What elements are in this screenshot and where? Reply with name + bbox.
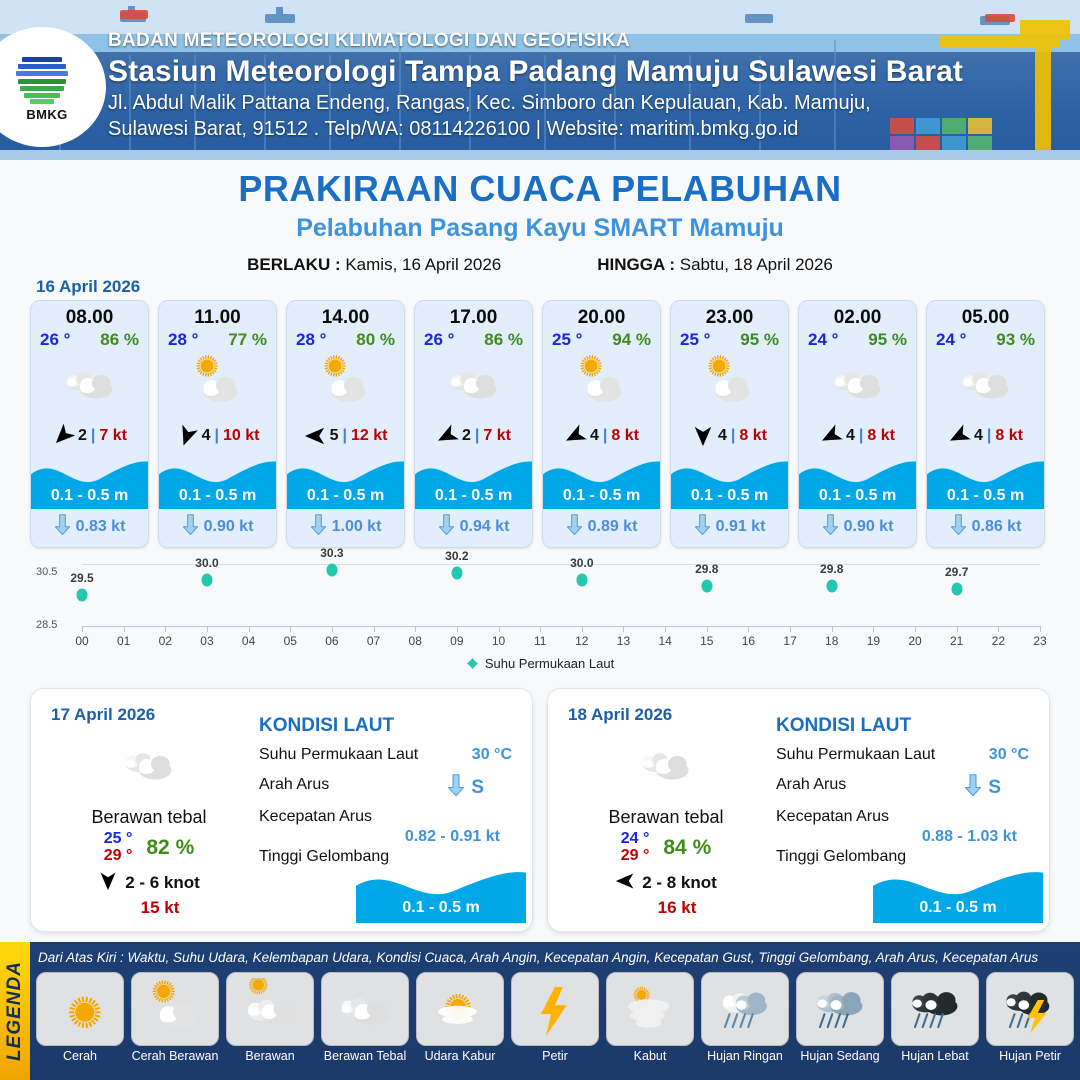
card-wind-row: 4 | 10 kt	[159, 424, 276, 448]
card-divider: |	[859, 427, 863, 445]
sea-conditions-header: KONDISI LAUT	[259, 715, 518, 737]
valid-from: BERLAKU : Kamis, 16 April 2026	[247, 255, 501, 275]
chart-point-label: 30.0	[570, 556, 593, 570]
address-line-2: Sulawesi Barat, 91512 . Telp/WA: 0811422…	[108, 118, 1072, 141]
card-weather-cerah-berawan-icon	[287, 352, 404, 414]
card-air-temperature: 26 °	[40, 330, 70, 350]
day-left-column: Berawan tebal 25 ° 29 ° 82 % 2 - 6 knot …	[49, 733, 249, 918]
chart-xtick-label: 23	[1033, 634, 1046, 648]
card-time: 11.00	[159, 307, 276, 329]
chart-xtick	[1040, 626, 1041, 632]
current-direction-row: Arah Arus S	[259, 776, 518, 794]
legend-note: Dari Atas Kiri : Waktu, Suhu Udara, Kele…	[38, 950, 1074, 965]
sst-chart: Suhu Permukaan Laut 30.528.5000102030405…	[30, 556, 1050, 676]
day-weather-berawan-tebal-icon	[49, 733, 249, 795]
legend-side-title: LEGENDA	[4, 961, 26, 1061]
current-direction-down-arrow-icon	[54, 514, 71, 540]
chart-point-label: 29.5	[70, 571, 93, 585]
agency-name: BADAN METEOROLOGI KLIMATOLOGI DAN GEOFIS…	[108, 30, 1072, 52]
card-air-temperature: 24 °	[936, 330, 966, 350]
current-direction-label: Arah Arus	[259, 776, 329, 793]
day-wind-range: 2 - 8 knot	[642, 873, 717, 893]
card-weather-berawan-tebal-icon	[799, 352, 916, 414]
forecast-card: 11.00 28 ° 77 % 4 | 10 kt 0.1 - 0.5 m 0.…	[158, 300, 277, 548]
day-wind-row: 2 - 8 knot	[566, 871, 766, 896]
card-time: 05.00	[927, 307, 1044, 329]
day-temp-row: 24 ° 29 ° 84 %	[566, 831, 766, 865]
daily-summary-card: 17 April 2026 Berawan tebal 25 ° 29 ° 82…	[30, 688, 533, 932]
card-gust-speed: 10 kt	[223, 427, 259, 445]
chart-data-point	[326, 564, 337, 577]
card-time: 20.00	[543, 307, 660, 329]
legend-item: Hujan Petir	[986, 972, 1074, 1063]
card-air-temperature: 25 °	[552, 330, 582, 350]
card-wave-height: 0.1 - 0.5 m	[31, 487, 148, 505]
day-condition: Berawan tebal	[566, 807, 766, 828]
current-direction-row: Arah Arus S	[776, 776, 1035, 794]
card-wind-row: 4 | 8 kt	[543, 424, 660, 448]
card-time: 14.00	[287, 307, 404, 329]
valid-from-label: BERLAKU :	[247, 255, 341, 274]
card-humidity: 86 %	[484, 330, 523, 350]
current-speed-value: 0.82 - 0.91 kt	[259, 828, 518, 846]
legend-item-label: Hujan Sedang	[796, 1049, 884, 1063]
card-current-speed: 0.90 kt	[844, 518, 894, 536]
card-divider: |	[214, 427, 218, 445]
card-divider: |	[342, 427, 346, 445]
card-temp-hum-row: 24 ° 93 %	[927, 329, 1044, 350]
day-left-column: Berawan tebal 24 ° 29 ° 84 % 2 - 8 knot …	[566, 733, 766, 918]
chart-data-point	[826, 579, 837, 592]
sst-row: Suhu Permukaan Laut 30 °C	[776, 746, 1035, 764]
chart-xtick-label: 06	[325, 634, 338, 648]
card-current-speed: 0.90 kt	[204, 518, 254, 536]
title-block: PRAKIRAAN CUACA PELABUHAN Pelabuhan Pasa…	[0, 168, 1080, 275]
day-temp-col: 24 ° 29 °	[621, 831, 650, 865]
card-humidity: 95 %	[868, 330, 907, 350]
current-direction-down-arrow-icon	[566, 514, 583, 540]
current-direction-down-arrow-icon	[182, 514, 199, 540]
day-temp-max: 29 °	[621, 848, 650, 865]
current-direction-value: S	[471, 777, 484, 799]
current-direction-value-group: S	[447, 774, 484, 802]
card-wind-speed: 2	[78, 427, 87, 445]
forecast-card: 05.00 24 ° 93 % 4 | 8 kt 0.1 - 0.5 m	[926, 300, 1045, 548]
legend-item-label: Hujan Lebat	[891, 1049, 979, 1063]
card-current-row: 0.90 kt	[799, 512, 916, 542]
card-divider: |	[603, 427, 607, 445]
chart-point-label: 30.2	[445, 549, 468, 563]
card-current-row: 0.90 kt	[159, 512, 276, 542]
page-header: BMKG BADAN METEOROLOGI KLIMATOLOGI DAN G…	[0, 0, 1080, 160]
card-humidity: 80 %	[356, 330, 395, 350]
page-subtitle: Pelabuhan Pasang Kayu SMART Mamuju	[0, 214, 1080, 243]
legend-item: Hujan Lebat	[891, 972, 979, 1063]
card-wave-band: 0.1 - 0.5 m	[31, 453, 148, 509]
card-current-speed: 0.83 kt	[76, 518, 126, 536]
card-wave-band: 0.1 - 0.5 m	[287, 453, 404, 509]
wind-direction-arrow-icon	[52, 425, 74, 447]
card-divider: |	[731, 427, 735, 445]
page-title: PRAKIRAAN CUACA PELABUHAN	[0, 168, 1080, 210]
chart-ytick-max: 30.5	[36, 566, 57, 578]
sst-value: 30 °C	[989, 746, 1029, 764]
chart-xtick-label: 10	[492, 634, 505, 648]
card-wave-height: 0.1 - 0.5 m	[799, 487, 916, 505]
current-speed-label: Kecepatan Arus	[259, 808, 372, 825]
card-wave-band: 0.1 - 0.5 m	[671, 453, 788, 509]
card-wind-row: 5 | 12 kt	[287, 424, 404, 448]
wind-direction-arrow-icon	[820, 425, 842, 447]
chart-legend: Suhu Permukaan Laut	[30, 656, 1050, 671]
chart-legend-marker-icon	[466, 657, 479, 670]
current-direction-value-group: S	[964, 774, 1001, 802]
current-speed-row: Kecepatan Arus	[259, 808, 518, 826]
forecast-card: 08.00 26 ° 86 % 2 | 7 kt 0.1 - 0.5 m	[30, 300, 149, 548]
valid-to: HINGGA : Sabtu, 18 April 2026	[597, 255, 833, 275]
chart-xtick-label: 00	[75, 634, 88, 648]
card-wave-height: 0.1 - 0.5 m	[415, 487, 532, 505]
legend-item: Udara Kabur	[416, 972, 504, 1063]
legend-cerah-berawan-icon	[131, 972, 219, 1046]
chart-xtick-label: 21	[950, 634, 963, 648]
card-weather-cerah-berawan-icon	[671, 352, 788, 414]
wind-direction-arrow-icon	[304, 425, 326, 447]
card-divider: |	[91, 427, 95, 445]
chart-xtick-label: 18	[825, 634, 838, 648]
card-wave-height: 0.1 - 0.5 m	[543, 487, 660, 505]
day-date: 17 April 2026	[51, 705, 155, 725]
card-divider: |	[475, 427, 479, 445]
chart-xtick-label: 01	[117, 634, 130, 648]
card-humidity: 77 %	[228, 330, 267, 350]
card-air-temperature: 26 °	[424, 330, 454, 350]
chart-data-point	[77, 589, 88, 602]
day-wind-range: 2 - 6 knot	[125, 873, 200, 893]
card-wind-speed: 2	[462, 427, 471, 445]
day-temp-min: 24 °	[621, 831, 650, 848]
legend-item: Kabut	[606, 972, 694, 1063]
wind-direction-arrow-icon	[948, 425, 970, 447]
card-humidity: 95 %	[740, 330, 779, 350]
legend-hujan-lebat-icon	[891, 972, 979, 1046]
sst-value: 30 °C	[472, 746, 512, 764]
forecast-card: 14.00 28 ° 80 % 5 | 12 kt 0.1 - 0.5 m 1.…	[286, 300, 405, 548]
card-current-speed: 0.91 kt	[716, 518, 766, 536]
valid-to-value: Sabtu, 18 April 2026	[680, 255, 833, 274]
chart-data-point	[576, 573, 587, 586]
card-humidity: 93 %	[996, 330, 1035, 350]
valid-from-value: Kamis, 16 April 2026	[345, 255, 501, 274]
card-air-temperature: 28 °	[296, 330, 326, 350]
chart-gridline-top	[82, 564, 1040, 565]
card-gust-speed: 8 kt	[611, 427, 639, 445]
chart-xtick-label: 11	[534, 634, 546, 648]
chart-legend-label: Suhu Permukaan Laut	[485, 656, 614, 671]
card-gust-speed: 8 kt	[867, 427, 895, 445]
card-wave-height: 0.1 - 0.5 m	[159, 487, 276, 505]
legend-item-label: Cerah	[36, 1049, 124, 1063]
legend-item-label: Berawan Tebal	[321, 1049, 409, 1063]
legend-item-label: Hujan Ringan	[701, 1049, 789, 1063]
card-temp-hum-row: 25 ° 94 %	[543, 329, 660, 350]
chart-xtick-label: 12	[575, 634, 588, 648]
station-name: Stasiun Meteorologi Tampa Padang Mamuju …	[108, 55, 1072, 89]
card-wave-height: 0.1 - 0.5 m	[671, 487, 788, 505]
card-wind-row: 4 | 8 kt	[799, 424, 916, 448]
card-air-temperature: 25 °	[680, 330, 710, 350]
day-gust: 15 kt	[71, 898, 249, 918]
chart-xtick-label: 15	[700, 634, 713, 648]
card-wind-row: 4 | 8 kt	[671, 424, 788, 448]
card-current-speed: 0.86 kt	[972, 518, 1022, 536]
current-direction-down-arrow-icon	[438, 514, 455, 540]
card-temp-hum-row: 25 ° 95 %	[671, 329, 788, 350]
sst-label: Suhu Permukaan Laut	[776, 746, 935, 763]
address-line-1: Jl. Abdul Malik Pattana Endeng, Rangas, …	[108, 92, 1072, 115]
card-current-speed: 0.94 kt	[460, 518, 510, 536]
legend-item: Cerah	[36, 972, 124, 1063]
day-wave-height-value: 0.1 - 0.5 m	[356, 899, 526, 917]
card-weather-berawan-tebal-icon	[31, 352, 148, 414]
card-humidity: 86 %	[100, 330, 139, 350]
card-time: 17.00	[415, 307, 532, 329]
day-wave-band: 0.1 - 0.5 m	[356, 863, 526, 923]
day-gust: 16 kt	[588, 898, 766, 918]
wind-direction-arrow-icon	[564, 425, 586, 447]
legend-item: Hujan Ringan	[701, 972, 789, 1063]
card-time: 08.00	[31, 307, 148, 329]
wind-direction-arrow-icon	[436, 425, 458, 447]
chart-data-point	[451, 567, 462, 580]
card-wave-height: 0.1 - 0.5 m	[927, 487, 1044, 505]
forecast-card: 23.00 25 ° 95 % 4 | 8 kt 0.1 - 0.5 m 0.9…	[670, 300, 789, 548]
forecast-card: 02.00 24 ° 95 % 4 | 8 kt 0.1 - 0.5 m	[798, 300, 917, 548]
day-date: 18 April 2026	[568, 705, 672, 725]
card-weather-cerah-berawan-icon	[159, 352, 276, 414]
day-temp-col: 25 ° 29 °	[104, 831, 133, 865]
chart-xtick-label: 04	[242, 634, 255, 648]
day-temp-min: 25 °	[104, 831, 133, 848]
card-weather-berawan-tebal-icon	[927, 352, 1044, 414]
legend-item-label: Berawan	[226, 1049, 314, 1063]
card-wind-row: 2 | 7 kt	[415, 424, 532, 448]
day-weather-berawan-tebal-icon	[566, 733, 766, 795]
chart-xtick-label: 17	[783, 634, 796, 648]
current-direction-down-arrow-icon	[950, 514, 967, 540]
legend-items: Cerah Cerah Berawan Berawan	[36, 972, 1074, 1063]
card-current-row: 1.00 kt	[287, 512, 404, 542]
bmkg-logo-text: BMKG	[26, 107, 67, 122]
card-temp-hum-row: 26 ° 86 %	[31, 329, 148, 350]
card-wind-speed: 4	[846, 427, 855, 445]
sst-label: Suhu Permukaan Laut	[259, 746, 418, 763]
card-wind-speed: 4	[202, 427, 211, 445]
legend-cerah-icon	[36, 972, 124, 1046]
chart-plot-area	[82, 564, 1040, 626]
chart-ytick-min: 28.5	[36, 619, 57, 631]
chart-xtick-label: 20	[908, 634, 921, 648]
card-air-temperature: 24 °	[808, 330, 838, 350]
chart-point-label: 29.7	[945, 565, 968, 579]
card-temp-hum-row: 24 ° 95 %	[799, 329, 916, 350]
legend-footer: LEGENDA Dari Atas Kiri : Waktu, Suhu Uda…	[0, 942, 1080, 1080]
legend-item-label: Kabut	[606, 1049, 694, 1063]
chart-xtick-label: 07	[367, 634, 380, 648]
card-gust-speed: 7 kt	[483, 427, 511, 445]
current-direction-value: S	[988, 777, 1001, 799]
daily-summary-row: 17 April 2026 Berawan tebal 25 ° 29 ° 82…	[30, 688, 1050, 932]
card-wind-speed: 4	[718, 427, 727, 445]
card-current-row: 0.89 kt	[543, 512, 660, 542]
chart-point-label: 30.3	[320, 546, 343, 560]
chart-xtick-label: 19	[867, 634, 880, 648]
valid-to-label: HINGGA :	[597, 255, 675, 274]
current-direction-down-arrow-icon	[964, 774, 982, 802]
chart-xtick-label: 22	[992, 634, 1005, 648]
chart-data-point	[201, 573, 212, 586]
legend-hujan-sedang-icon	[796, 972, 884, 1046]
card-current-row: 0.94 kt	[415, 512, 532, 542]
card-current-speed: 1.00 kt	[332, 518, 382, 536]
card-wave-band: 0.1 - 0.5 m	[543, 453, 660, 509]
card-wave-band: 0.1 - 0.5 m	[159, 453, 276, 509]
current-direction-down-arrow-icon	[310, 514, 327, 540]
card-time: 02.00	[799, 307, 916, 329]
chart-point-label: 29.8	[820, 562, 843, 576]
legend-item-label: Petir	[511, 1049, 599, 1063]
legend-hujan-ringan-icon	[701, 972, 789, 1046]
card-wind-speed: 4	[590, 427, 599, 445]
daily-summary-card: 18 April 2026 Berawan tebal 24 ° 29 ° 84…	[547, 688, 1050, 932]
legend-side-banner: LEGENDA	[0, 942, 30, 1080]
chart-xtick-label: 16	[742, 634, 755, 648]
card-current-speed: 0.89 kt	[588, 518, 638, 536]
chart-xtick-label: 02	[159, 634, 172, 648]
bmkg-logo-mark	[16, 53, 68, 105]
legend-item-label: Udara Kabur	[416, 1049, 504, 1063]
chart-data-point	[701, 579, 712, 592]
day-temp-row: 25 ° 29 ° 82 %	[49, 831, 249, 865]
card-weather-cerah-berawan-icon	[543, 352, 660, 414]
day-sea-conditions: KONDISI LAUT Suhu Permukaan Laut 30 °C A…	[259, 715, 518, 866]
card-air-temperature: 28 °	[168, 330, 198, 350]
card-wind-row: 4 | 8 kt	[927, 424, 1044, 448]
chart-xtick-label: 09	[450, 634, 463, 648]
day-humidity: 82 %	[146, 836, 194, 860]
card-wave-height: 0.1 - 0.5 m	[287, 487, 404, 505]
chart-point-label: 30.0	[195, 556, 218, 570]
legend-item: Petir	[511, 972, 599, 1063]
legend-udara-kabur-icon	[416, 972, 504, 1046]
day-sea-conditions: KONDISI LAUT Suhu Permukaan Laut 30 °C A…	[776, 715, 1035, 866]
legend-petir-icon	[511, 972, 599, 1046]
legend-berawan-tebal-icon	[321, 972, 409, 1046]
card-wind-speed: 5	[330, 427, 339, 445]
legend-item: Hujan Sedang	[796, 972, 884, 1063]
day-condition: Berawan tebal	[49, 807, 249, 828]
card-humidity: 94 %	[612, 330, 651, 350]
wind-direction-arrow-icon	[176, 425, 198, 447]
chart-x-axis	[82, 626, 1040, 627]
current-direction-down-arrow-icon	[447, 774, 465, 802]
card-gust-speed: 8 kt	[995, 427, 1023, 445]
card-gust-speed: 7 kt	[99, 427, 127, 445]
card-time: 23.00	[671, 307, 788, 329]
card-temp-hum-row: 28 ° 80 %	[287, 329, 404, 350]
forecast-card: 20.00 25 ° 94 % 4 | 8 kt 0.1 - 0.5 m 0.8…	[542, 300, 661, 548]
day-wind-row: 2 - 6 knot	[49, 871, 249, 896]
legend-berawan-icon	[226, 972, 314, 1046]
card-wind-speed: 4	[974, 427, 983, 445]
header-text-block: BADAN METEOROLOGI KLIMATOLOGI DAN GEOFIS…	[108, 30, 1072, 141]
current-direction-label: Arah Arus	[776, 776, 846, 793]
card-current-row: 0.83 kt	[31, 512, 148, 542]
legend-item: Berawan Tebal	[321, 972, 409, 1063]
chart-data-point	[951, 582, 962, 595]
chart-xtick-label: 05	[284, 634, 297, 648]
card-gust-speed: 12 kt	[351, 427, 387, 445]
day-wave-height-value: 0.1 - 0.5 m	[873, 899, 1043, 917]
legend-hujan-petir-icon	[986, 972, 1074, 1046]
current-speed-label: Kecepatan Arus	[776, 808, 889, 825]
legend-item-label: Hujan Petir	[986, 1049, 1074, 1063]
validity-row: BERLAKU : Kamis, 16 April 2026 HINGGA : …	[0, 255, 1080, 275]
chart-xtick-label: 13	[617, 634, 630, 648]
card-wave-band: 0.1 - 0.5 m	[927, 453, 1044, 509]
card-temp-hum-row: 28 ° 77 %	[159, 329, 276, 350]
current-direction-down-arrow-icon	[822, 514, 839, 540]
card-current-row: 0.86 kt	[927, 512, 1044, 542]
legend-item: Cerah Berawan	[131, 972, 219, 1063]
chart-point-label: 29.8	[695, 562, 718, 576]
legend-kabut-icon	[606, 972, 694, 1046]
day-temp-max: 29 °	[104, 848, 133, 865]
card-gust-speed: 8 kt	[739, 427, 767, 445]
card-wave-band: 0.1 - 0.5 m	[799, 453, 916, 509]
current-speed-value: 0.88 - 1.03 kt	[776, 828, 1035, 846]
day-humidity: 84 %	[663, 836, 711, 860]
chart-xtick-label: 03	[200, 634, 213, 648]
legend-item-label: Cerah Berawan	[131, 1049, 219, 1063]
current-direction-down-arrow-icon	[694, 514, 711, 540]
card-current-row: 0.91 kt	[671, 512, 788, 542]
card-wave-band: 0.1 - 0.5 m	[415, 453, 532, 509]
forecast-card: 17.00 26 ° 86 % 2 | 7 kt 0.1 - 0.5 m	[414, 300, 533, 548]
card-divider: |	[987, 427, 991, 445]
sea-conditions-header: KONDISI LAUT	[776, 715, 1035, 737]
day-wind-direction-arrow-icon	[615, 871, 635, 896]
chart-xtick-label: 08	[409, 634, 422, 648]
current-speed-row: Kecepatan Arus	[776, 808, 1035, 826]
sst-row: Suhu Permukaan Laut 30 °C	[259, 746, 518, 764]
chart-xtick-label: 14	[658, 634, 671, 648]
hourly-forecast-row: 08.00 26 ° 86 % 2 | 7 kt 0.1 - 0.5 m	[30, 300, 1050, 548]
wind-direction-arrow-icon	[692, 425, 714, 447]
card-wind-row: 2 | 7 kt	[31, 424, 148, 448]
legend-item: Berawan	[226, 972, 314, 1063]
day-wave-band: 0.1 - 0.5 m	[873, 863, 1043, 923]
forecast-date-label: 16 April 2026	[36, 277, 140, 297]
day-wind-direction-arrow-icon	[98, 871, 118, 896]
card-weather-berawan-tebal-icon	[415, 352, 532, 414]
card-temp-hum-row: 26 ° 86 %	[415, 329, 532, 350]
